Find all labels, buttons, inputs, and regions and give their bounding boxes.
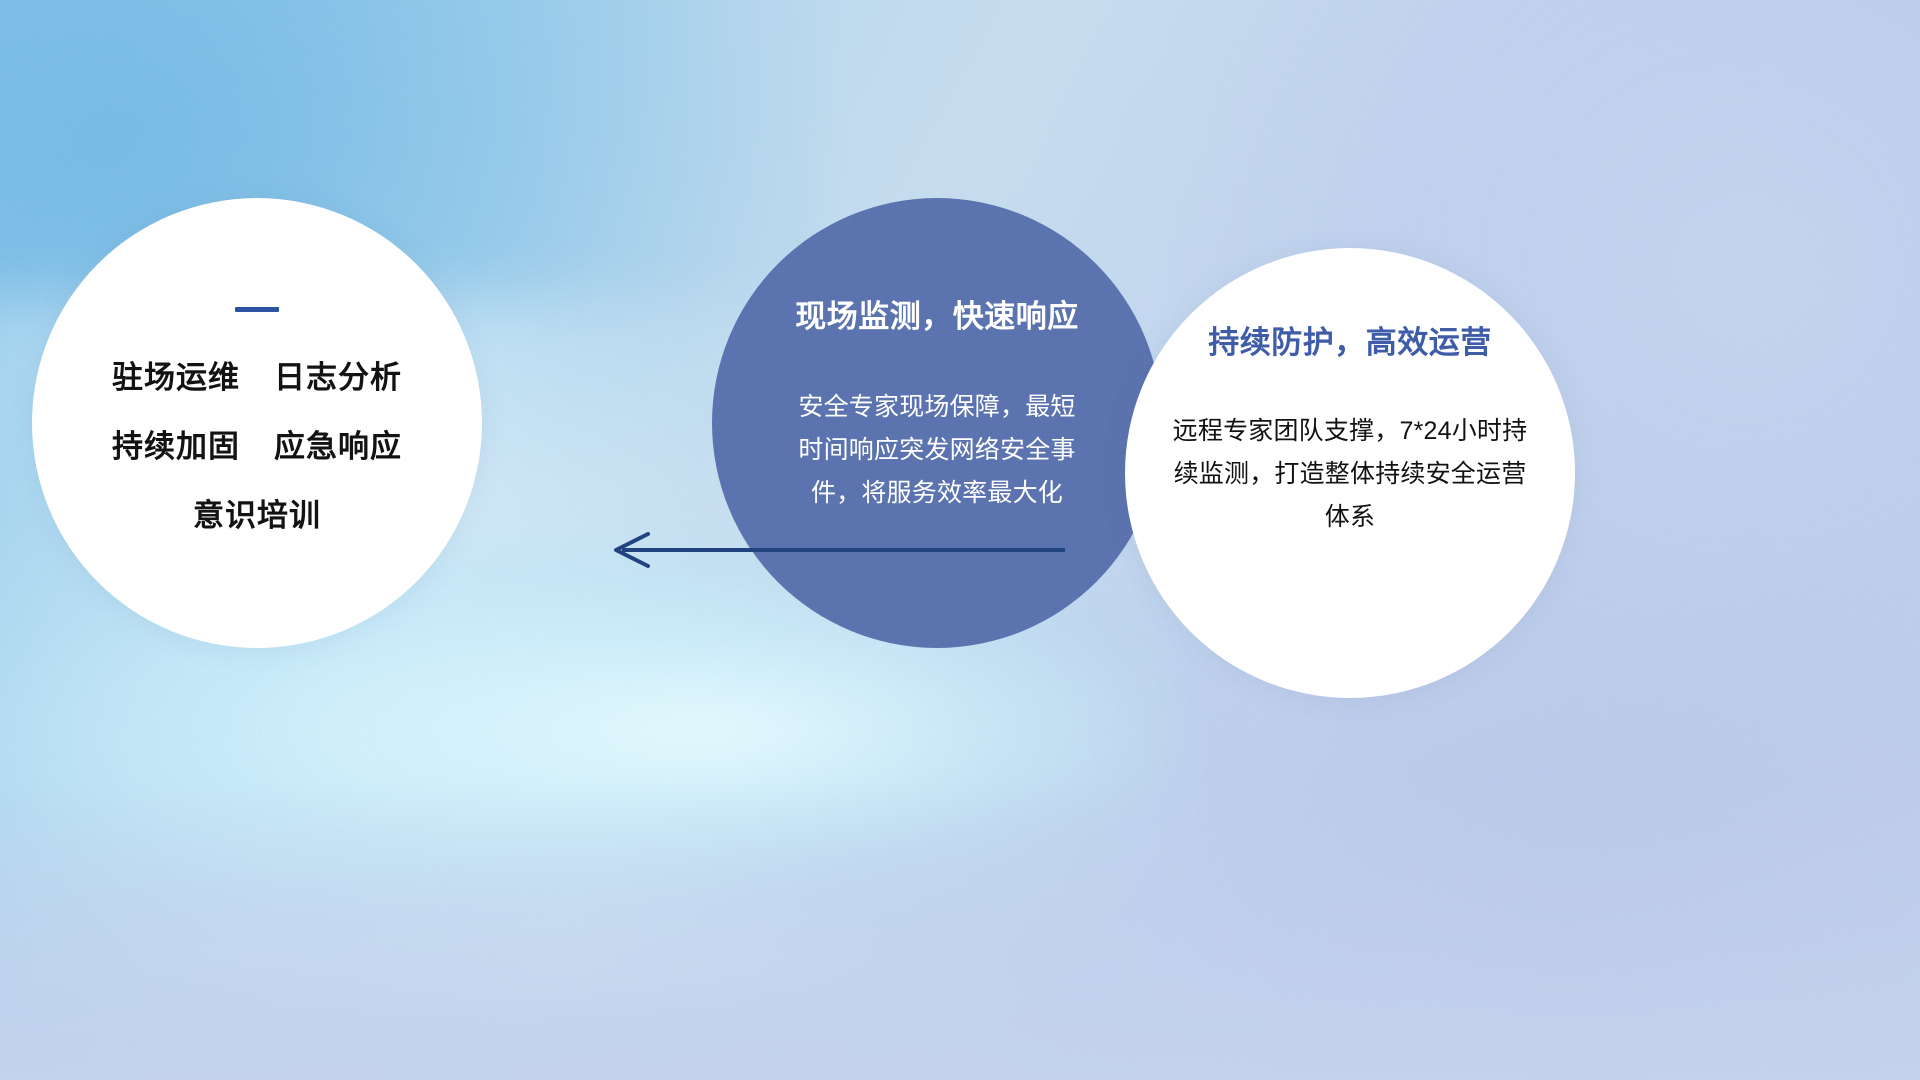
onsite-monitoring-title: 现场监测，快速响应 [795, 300, 1079, 334]
keyword-row: 驻场运维 日志分析 [112, 362, 402, 393]
keyword-label: 日志分析 [274, 362, 402, 393]
keyword-label: 驻场运维 [112, 362, 240, 393]
keyword-label: 应急响应 [274, 431, 402, 462]
slide-canvas: 驻场运维 日志分析 持续加固 应急响应 意识培训 现场监测，快速响应 安全专家现… [0, 0, 1920, 1080]
keyword-label: 持续加固 [112, 431, 240, 462]
continuous-protection-title: 持续防护，高效运营 [1208, 326, 1492, 360]
keyword-label: 意识培训 [193, 500, 321, 531]
keyword-row: 意识培训 [193, 500, 321, 531]
continuous-protection-body: 远程专家团队支撑，7*24小时持续监测，打造整体持续安全运营体系 [1166, 410, 1534, 539]
horizontal-dash-icon [235, 307, 279, 312]
keyword-row: 持续加固 应急响应 [112, 431, 402, 462]
onsite-monitoring-content: 现场监测，快速响应 安全专家现场保障，最短时间响应突发网络安全事件，将服务效率最… [712, 198, 1162, 648]
capabilities-content: 驻场运维 日志分析 持续加固 应急响应 意识培训 [32, 198, 482, 648]
continuous-protection-content: 持续防护，高效运营 远程专家团队支撑，7*24小时持续监测，打造整体持续安全运营… [1125, 248, 1575, 698]
background-bottom-band [0, 780, 1920, 1080]
onsite-monitoring-body: 安全专家现场保障，最短时间响应突发网络安全事件，将服务效率最大化 [787, 386, 1087, 515]
